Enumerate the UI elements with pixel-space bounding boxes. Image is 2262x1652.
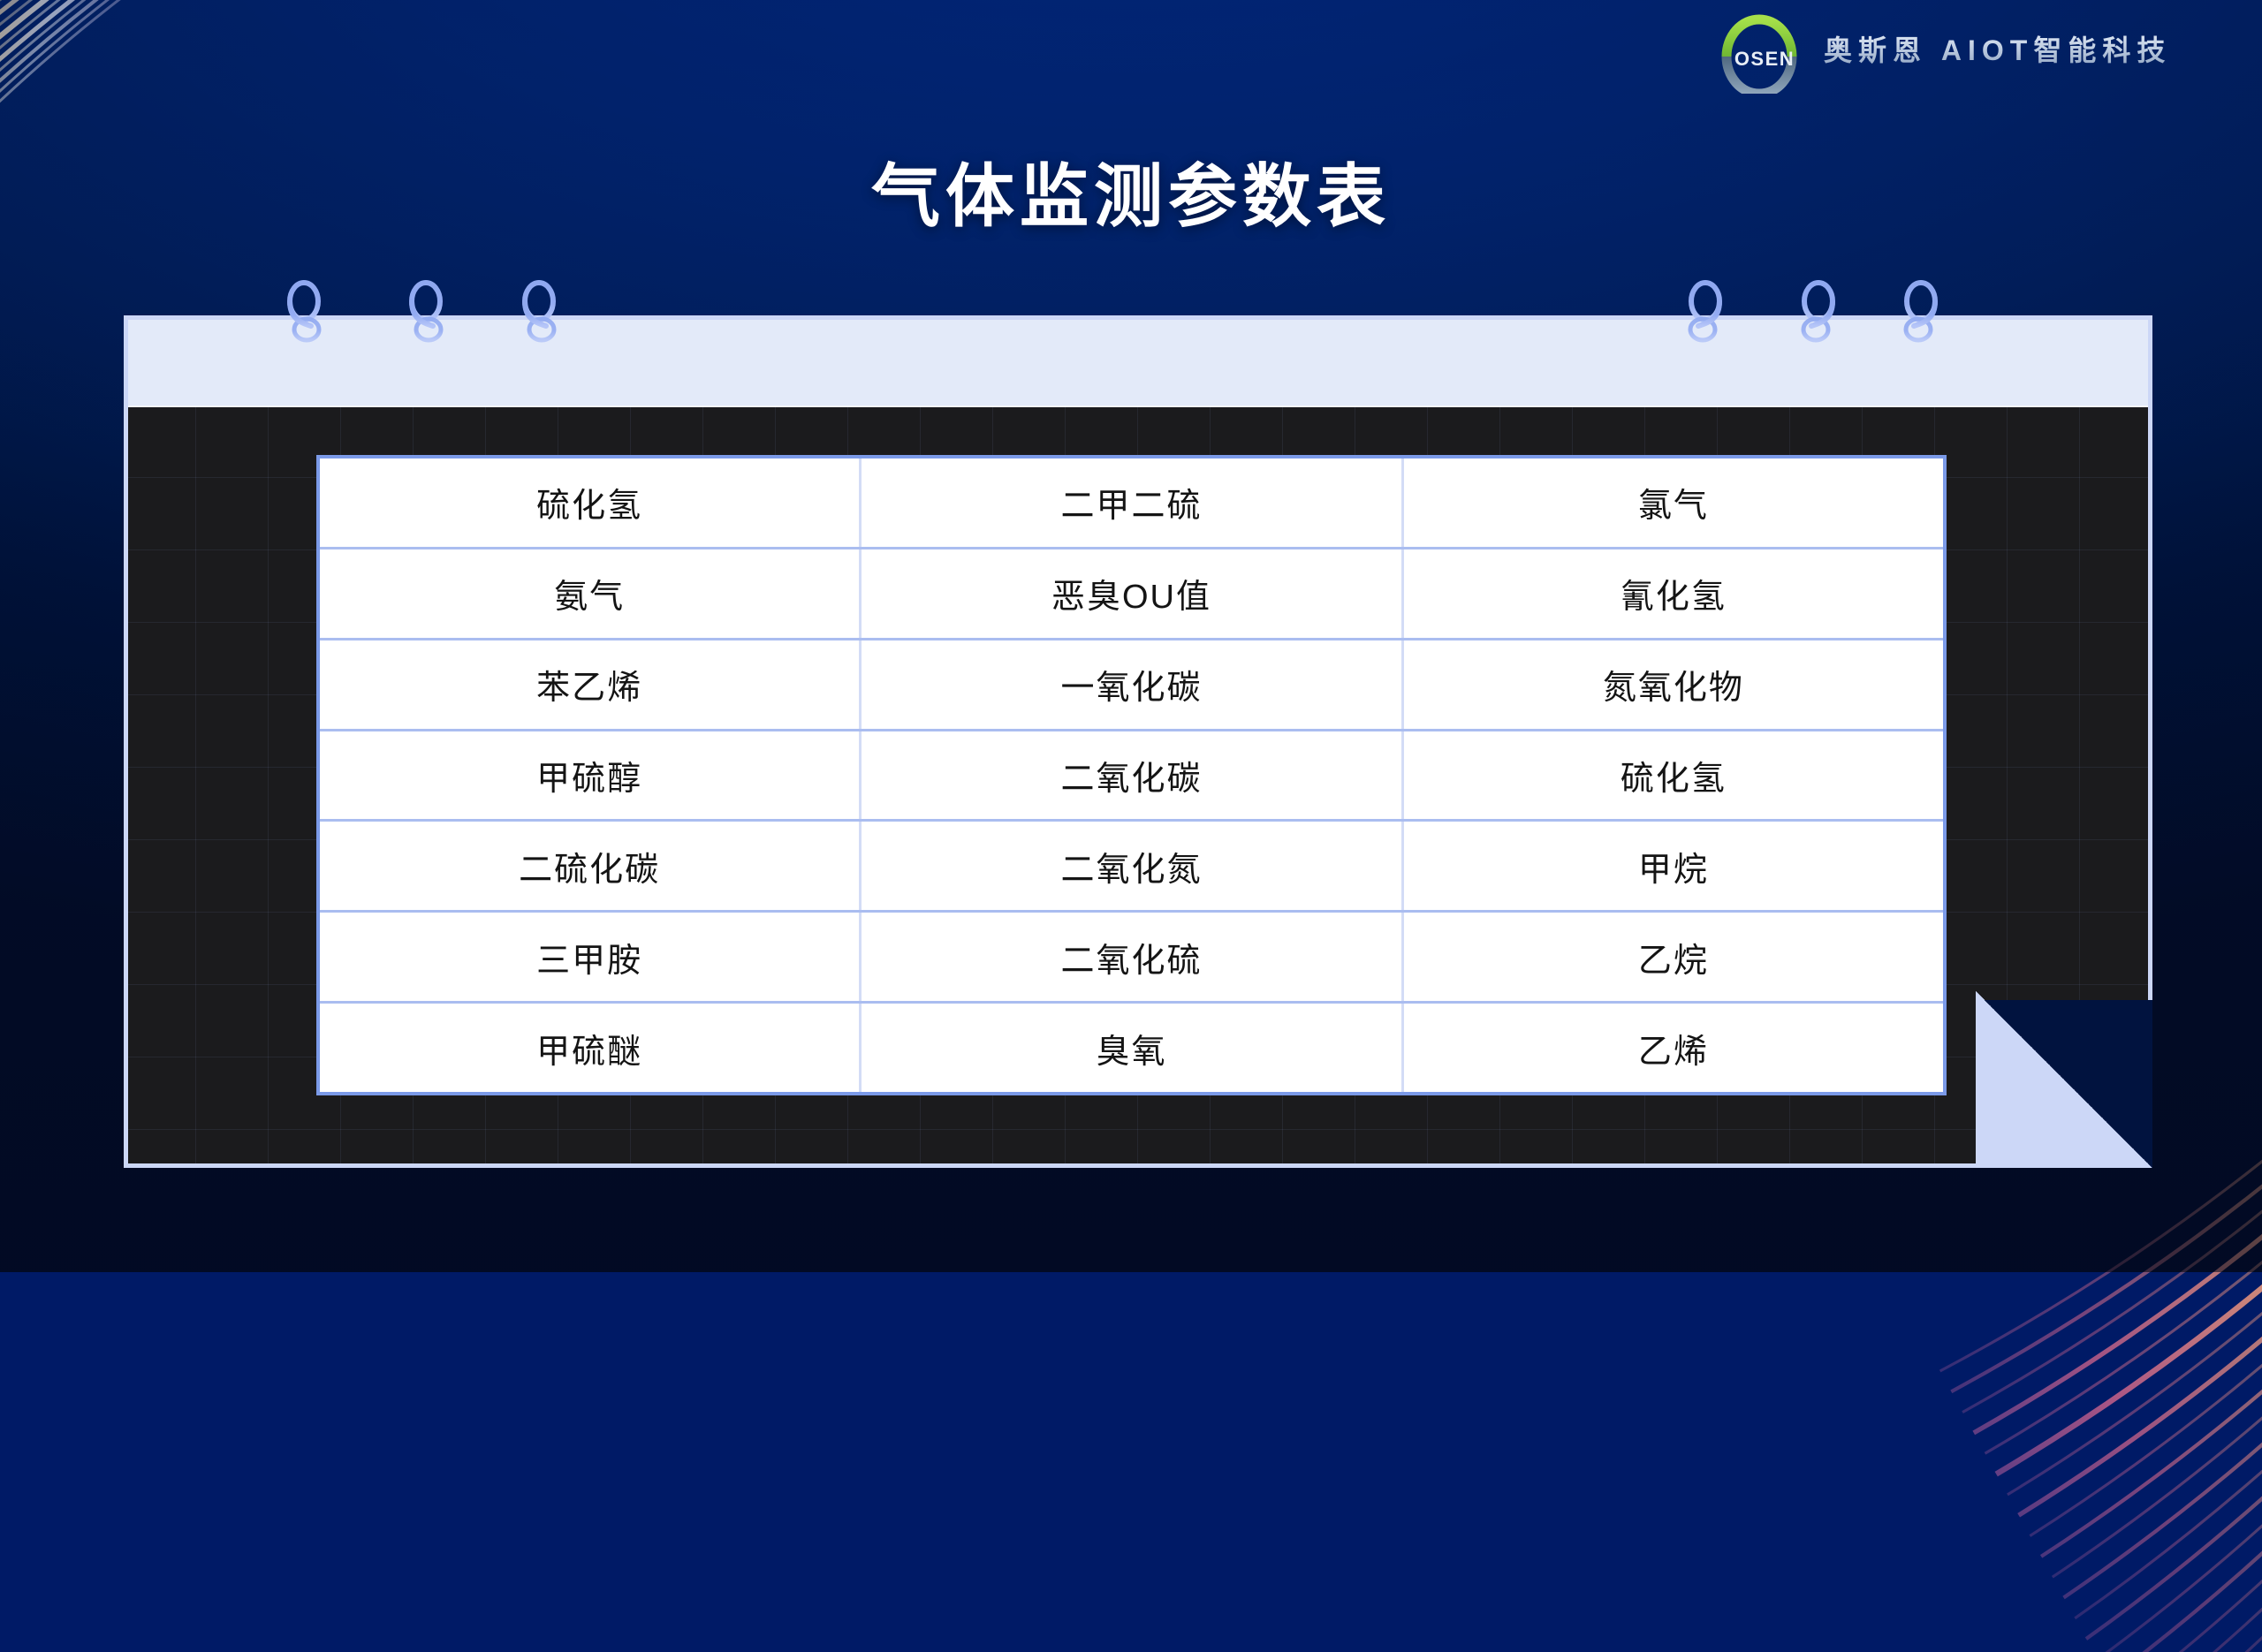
- folded-corner-cut: [1985, 1000, 2152, 1168]
- table-cell: 乙烯: [1401, 1004, 1943, 1092]
- table-cell: 二甲二硫: [859, 458, 1400, 547]
- logo-osen-label: OSEN: [1719, 14, 1810, 104]
- table-cell: 恶臭OU值: [859, 549, 1400, 638]
- table-row: 硫化氢二甲二硫氯气: [320, 458, 1943, 547]
- table-row: 氨气恶臭OU值氰化氢: [320, 547, 1943, 638]
- table-cell: 硫化氢: [1401, 731, 1943, 820]
- table-cell: 甲烷: [1401, 822, 1943, 910]
- brand-wordmark: 奥斯恩 AIOT智能科技: [1824, 28, 2171, 69]
- table-cell: 一氧化碳: [859, 640, 1400, 729]
- table-row: 甲硫醚臭氧乙烯: [320, 1001, 1943, 1092]
- table-cell: 氯气: [1401, 458, 1943, 547]
- table-row: 苯乙烯一氧化碳氮氧化物: [320, 638, 1943, 729]
- table-cell: 三甲胺: [320, 913, 859, 1001]
- table-cell: 二氧化硫: [859, 913, 1400, 1001]
- table-cell: 苯乙烯: [320, 640, 859, 729]
- table-cell: 二硫化碳: [320, 822, 859, 910]
- table-cell: 二氧化氮: [859, 822, 1400, 910]
- table-cell: 二氧化碳: [859, 731, 1400, 820]
- table-row: 二硫化碳二氧化氮甲烷: [320, 819, 1943, 910]
- table-cell: 氮氧化物: [1401, 640, 1943, 729]
- table-cell: 臭氧: [859, 1004, 1400, 1092]
- table-row: 三甲胺二氧化硫乙烷: [320, 910, 1943, 1001]
- notepad-header-band: [128, 320, 2148, 407]
- page-title: 气体监测参数表: [0, 141, 2262, 240]
- table-cell: 甲硫醚: [320, 1004, 859, 1092]
- table-cell: 氰化氢: [1401, 549, 1943, 638]
- table-cell: 氨气: [320, 549, 859, 638]
- table-cell: 乙烷: [1401, 913, 1943, 1001]
- table-cell: 甲硫醇: [320, 731, 859, 820]
- brand-logo-block: OSEN 奥斯恩 AIOT智能科技: [1714, 4, 2171, 94]
- table-row: 甲硫醇二氧化碳硫化氢: [320, 729, 1943, 820]
- gas-parameter-table: 硫化氢二甲二硫氯气氨气恶臭OU值氰化氢苯乙烯一氧化碳氮氧化物甲硫醇二氧化碳硫化氢…: [316, 455, 1947, 1095]
- table-cell: 硫化氢: [320, 458, 859, 547]
